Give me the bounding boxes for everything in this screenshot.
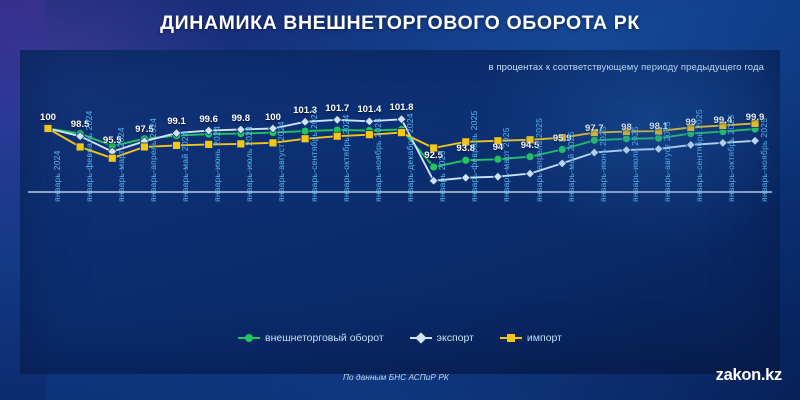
data-label: 99.8 — [231, 113, 250, 124]
data-label: 98.5 — [71, 119, 90, 130]
data-label: 101.4 — [357, 104, 381, 115]
data-point — [333, 115, 342, 124]
data-label: 98.1 — [649, 121, 668, 132]
data-point — [76, 143, 84, 151]
data-point — [365, 117, 374, 126]
site-logo: zakon.kz — [716, 366, 782, 385]
data-label: 92.5 — [424, 150, 443, 161]
data-point — [140, 143, 148, 151]
data-label: 93.8 — [456, 143, 475, 154]
data-label: 99.1 — [167, 116, 186, 127]
data-point — [301, 127, 309, 135]
data-point — [205, 140, 213, 148]
data-point — [590, 148, 599, 157]
legend-circle-icon — [238, 337, 260, 339]
data-label: 101.3 — [293, 105, 317, 116]
data-point — [430, 163, 438, 171]
legend-square-icon — [500, 337, 522, 339]
data-label: 99.4 — [714, 115, 733, 126]
data-point — [622, 146, 631, 155]
data-point — [751, 136, 760, 145]
data-label: 95.5 — [103, 135, 122, 146]
data-point — [173, 141, 181, 149]
data-point — [333, 132, 341, 140]
data-point — [397, 115, 406, 124]
chart-legend: внешнеторговый оборотэкспортимпорт — [20, 332, 780, 344]
data-label: 99.9 — [746, 112, 765, 123]
data-point — [462, 156, 470, 164]
data-label: 97.7 — [585, 123, 604, 134]
data-label: 98 — [621, 122, 632, 133]
data-point — [398, 129, 406, 137]
legend-diamond-icon — [410, 337, 432, 339]
data-point — [237, 140, 245, 148]
data-point — [558, 146, 566, 154]
infographic-root: ДИНАМИКА ВНЕШНЕТОРГОВОГО ОБОРОТА РК в пр… — [0, 0, 800, 400]
source-note: По данным БНС АСПиР РК — [343, 373, 449, 382]
data-point — [526, 169, 535, 178]
data-point — [718, 138, 727, 147]
legend-label: внешнеторговый оборот — [265, 332, 384, 344]
legend-label: экспорт — [437, 332, 474, 344]
data-label: 101.8 — [389, 102, 413, 113]
data-point — [301, 117, 310, 126]
data-point — [44, 125, 52, 133]
data-point — [301, 135, 309, 143]
legend-item[interactable]: импорт — [500, 332, 562, 344]
data-point — [494, 172, 503, 181]
data-point — [526, 153, 534, 161]
data-point — [108, 154, 116, 162]
chart-panel: в процентах к соответствующему периоду п… — [20, 50, 780, 374]
data-label: 100 — [40, 112, 56, 123]
data-point — [590, 136, 598, 144]
data-label: 97.5 — [135, 124, 154, 135]
data-point — [558, 159, 567, 168]
page-title: ДИНАМИКА ВНЕШНЕТОРГОВОГО ОБОРОТА РК — [0, 12, 800, 35]
legend-item[interactable]: экспорт — [410, 332, 474, 344]
data-point — [429, 176, 438, 185]
legend-item[interactable]: внешнеторговый оборот — [238, 332, 384, 344]
data-label: 94.5 — [521, 140, 540, 151]
data-point — [461, 173, 470, 182]
data-label: 99.6 — [199, 114, 218, 125]
data-label: 99 — [685, 117, 696, 128]
data-label: 95.9 — [553, 133, 572, 144]
data-label: 100 — [265, 112, 281, 123]
chart-svg — [20, 50, 780, 374]
data-label: 94 — [493, 142, 504, 153]
data-point — [365, 131, 373, 139]
data-point — [269, 139, 277, 147]
legend-label: импорт — [527, 332, 562, 344]
data-point — [654, 145, 663, 154]
plot-area: 10098.595.597.599.199.699.8100101.3101.7… — [20, 50, 780, 374]
data-label: 101.7 — [325, 103, 349, 114]
data-point — [686, 141, 695, 150]
data-point — [494, 155, 502, 163]
